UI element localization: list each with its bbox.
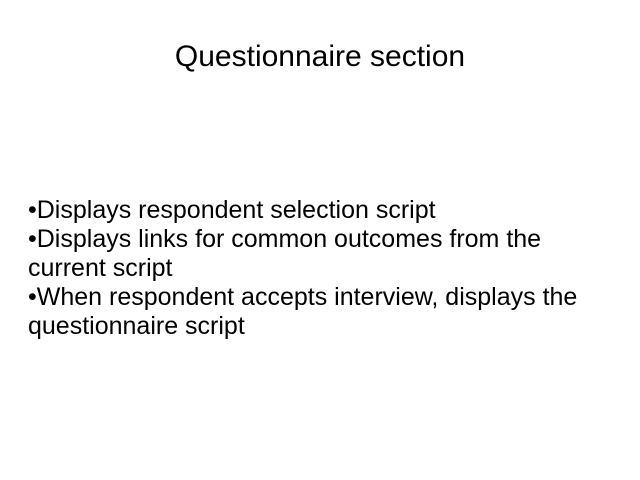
bullet-list: •Displays respondent selection script •D…	[28, 196, 604, 341]
list-item: •When respondent accepts interview, disp…	[28, 283, 604, 341]
page-title: Questionnaire section	[0, 38, 640, 76]
list-item: •Displays respondent selection script	[28, 196, 604, 225]
list-item: •Displays links for common outcomes from…	[28, 225, 604, 283]
slide-canvas: Questionnaire section •Displays responde…	[0, 0, 640, 480]
